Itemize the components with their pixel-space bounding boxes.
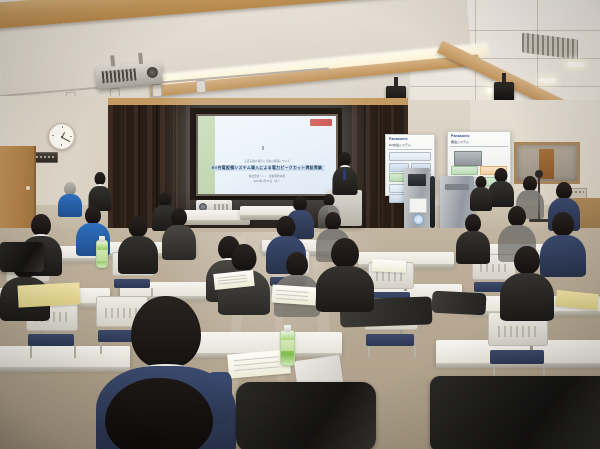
mouse-cursor-icon [262, 146, 264, 150]
charger-cable [430, 176, 435, 228]
banner-brand-left: Panasonic [389, 137, 408, 141]
slide-date: 2024年1月24日（水） [254, 179, 281, 183]
folded-coat-right [431, 291, 486, 316]
attendee-foreground-dark [84, 378, 234, 449]
attendee-row2-c [118, 216, 158, 272]
printed-handout-b [271, 284, 316, 305]
foreground-bag-right [430, 376, 600, 449]
seminar-room-photo: 実証実験の報告と今後の展開について EV充電設備システム導入による電力ピークカッ… [0, 0, 600, 449]
ceiling-speaker-right [494, 82, 514, 101]
charger-badge-icon [413, 214, 424, 225]
banner-brand-right: Panasonic [451, 134, 470, 138]
green-tea-bottle-front [280, 330, 295, 366]
attendee-row2-j [456, 214, 490, 262]
green-tea-bottle-far [96, 240, 108, 268]
attendee-row2-d [162, 208, 196, 258]
projection-screen: 実証実験の報告と今後の展開について EV充電設備システム導入による電力ピークカッ… [196, 114, 338, 196]
printed-handout-d [372, 259, 407, 273]
foreground-bag [236, 382, 376, 449]
attendee-right-far-d [470, 176, 492, 210]
battery-vent [445, 184, 469, 190]
analog-wall-clock [48, 123, 75, 150]
charger-label [409, 198, 427, 213]
presenter-standing [332, 152, 358, 194]
attendee-mid-right [316, 238, 374, 308]
yellow-folder [17, 282, 80, 307]
attendee-row3-d [500, 246, 554, 318]
slide-side-band [198, 116, 215, 194]
slide-title: EV充電設備システム導入による電力ピークカット実証実験 [210, 165, 325, 171]
banner-headline-left: EV充電システム [389, 143, 431, 148]
attendee-bag-left [0, 242, 44, 272]
door-knob[interactable] [26, 186, 30, 190]
slide-heading: 実証実験の報告と今後の展開について [244, 159, 290, 163]
slide-presenter: 株式会社○○○○ 技術開発本部 [249, 174, 285, 178]
banner-product-photo [454, 151, 482, 166]
attendee-far-left [88, 172, 112, 210]
presenter-logo-icon [310, 119, 332, 126]
banner-headline-right: 蓄電システム [451, 140, 507, 145]
charger-display [408, 174, 426, 186]
